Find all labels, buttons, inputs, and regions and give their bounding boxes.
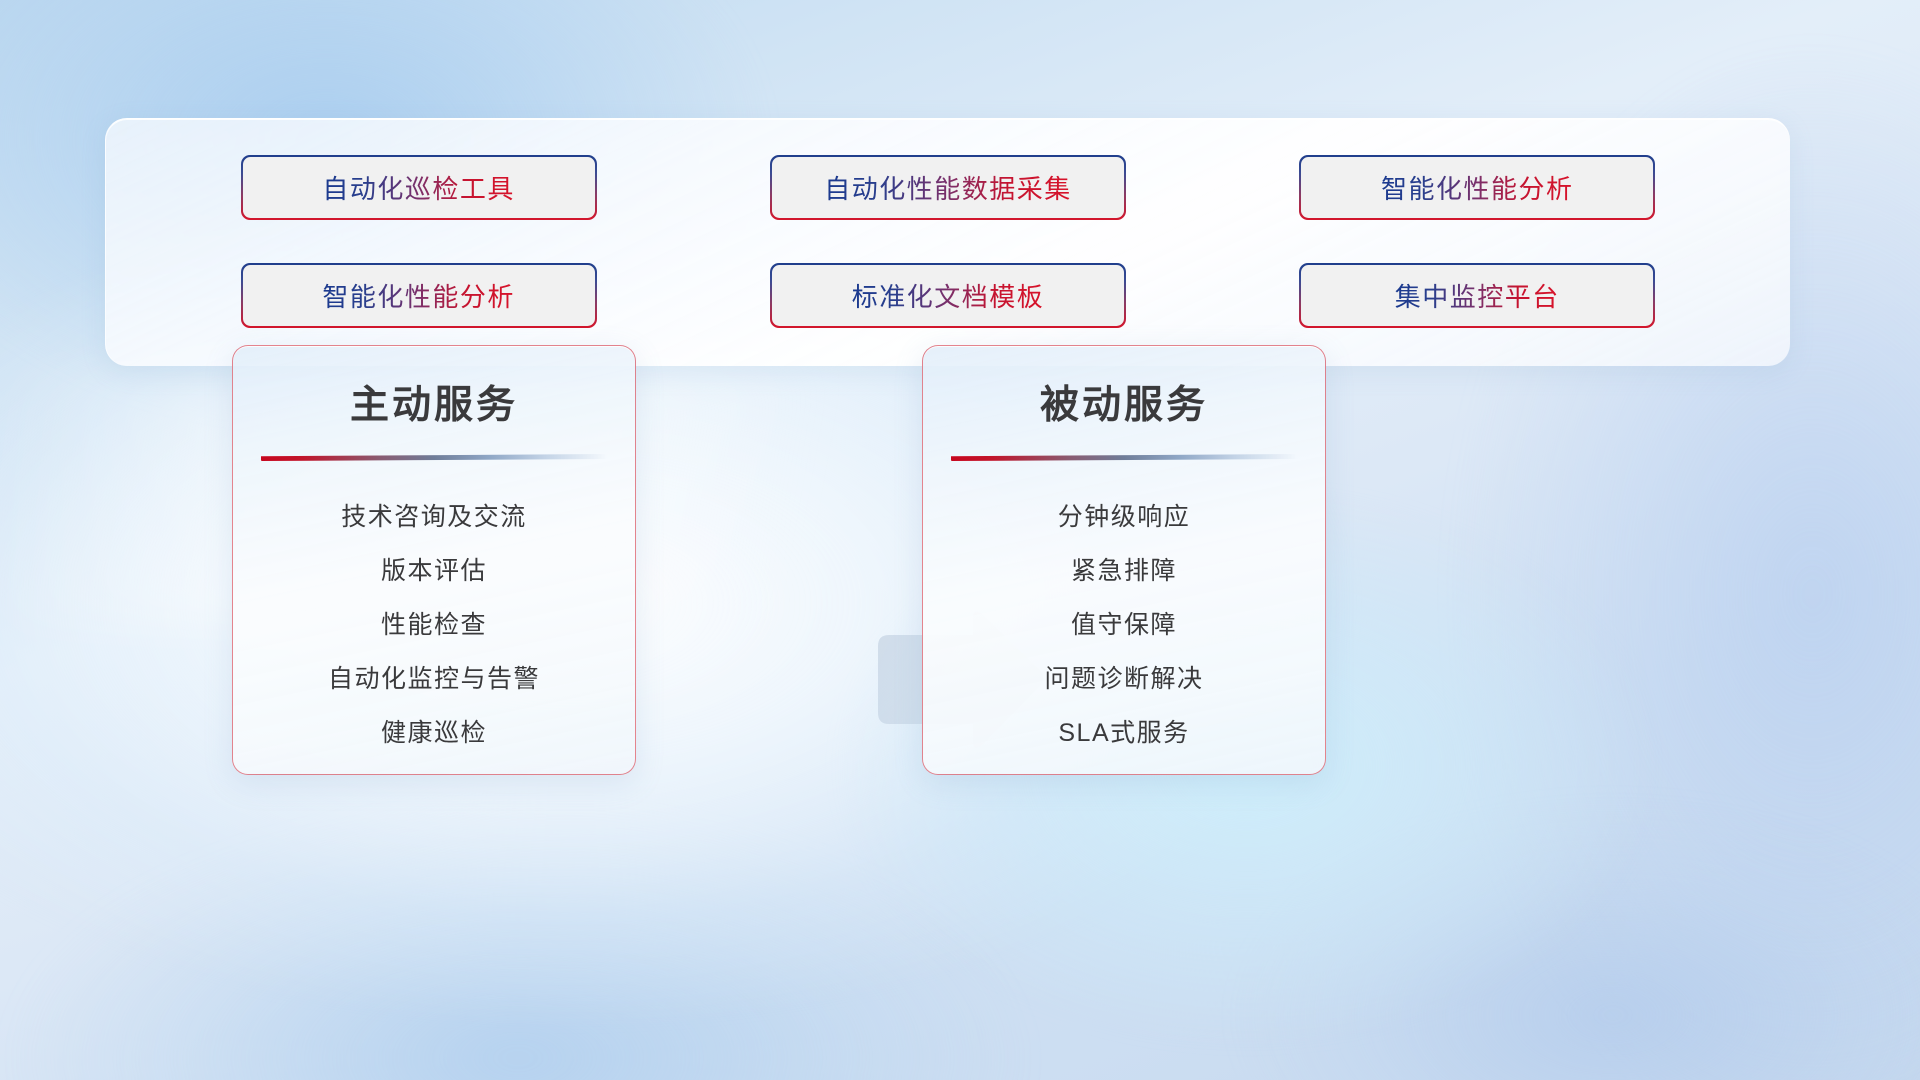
list-item: 分钟级响应	[939, 491, 1309, 545]
capability-pill[interactable]: 集中监控平台	[1299, 263, 1655, 328]
list-item: 值守保障	[939, 599, 1309, 653]
service-card-title: 主动服务	[233, 374, 635, 430]
list-item: 自动化监控与告警	[249, 653, 619, 707]
service-card-list: 技术咨询及交流 版本评估 性能检查 自动化监控与告警 健康巡检	[233, 491, 635, 761]
service-card-passive[interactable]: 被动服务 分钟级响应 紧急排障 值守保障 问题诊断解决 SLA式服务	[922, 345, 1326, 775]
service-card-divider	[951, 454, 1297, 461]
capability-pill-label: 自动化巡检工具	[322, 169, 515, 206]
service-card-title: 被动服务	[923, 374, 1325, 430]
capability-pill[interactable]: 自动化巡检工具	[241, 155, 597, 220]
capability-pill[interactable]: 自动化性能数据采集	[770, 155, 1126, 220]
list-item: 健康巡检	[249, 707, 619, 761]
service-card-active[interactable]: 主动服务 技术咨询及交流 版本评估 性能检查 自动化监控与告警 健康巡检	[232, 345, 636, 775]
capability-pill-inner: 智能化性能分析	[243, 265, 595, 326]
list-item: 问题诊断解决	[939, 653, 1309, 707]
capability-pill-inner: 集中监控平台	[1301, 265, 1653, 326]
capability-pill-inner: 自动化巡检工具	[243, 157, 595, 218]
capability-pill-inner: 自动化性能数据采集	[772, 157, 1124, 218]
list-item: 技术咨询及交流	[249, 491, 619, 545]
capability-panel: 自动化巡检工具 自动化性能数据采集 智能化性能分析 智能化性能分析 标准化文档模…	[105, 118, 1790, 366]
capability-pill-label: 集中监控平台	[1395, 277, 1560, 314]
capability-pill-label: 智能化性能分析	[322, 277, 515, 314]
capability-pill-grid: 自动化巡检工具 自动化性能数据采集 智能化性能分析 智能化性能分析 标准化文档模…	[106, 119, 1790, 366]
capability-pill-inner: 标准化文档模板	[772, 265, 1124, 326]
list-item: SLA式服务	[939, 707, 1309, 761]
service-card-divider	[261, 454, 607, 461]
capability-pill-label: 自动化性能数据采集	[824, 169, 1072, 206]
capability-pill-inner: 智能化性能分析	[1301, 157, 1653, 218]
capability-pill[interactable]: 智能化性能分析	[241, 263, 597, 328]
capability-pill-label: 标准化文档模板	[852, 277, 1045, 314]
list-item: 性能检查	[249, 599, 619, 653]
capability-pill[interactable]: 智能化性能分析	[1299, 155, 1655, 220]
capability-pill[interactable]: 标准化文档模板	[770, 263, 1126, 328]
list-item: 紧急排障	[939, 545, 1309, 599]
list-item: 版本评估	[249, 545, 619, 599]
capability-pill-label: 智能化性能分析	[1381, 169, 1574, 206]
service-card-list: 分钟级响应 紧急排障 值守保障 问题诊断解决 SLA式服务	[923, 491, 1325, 761]
